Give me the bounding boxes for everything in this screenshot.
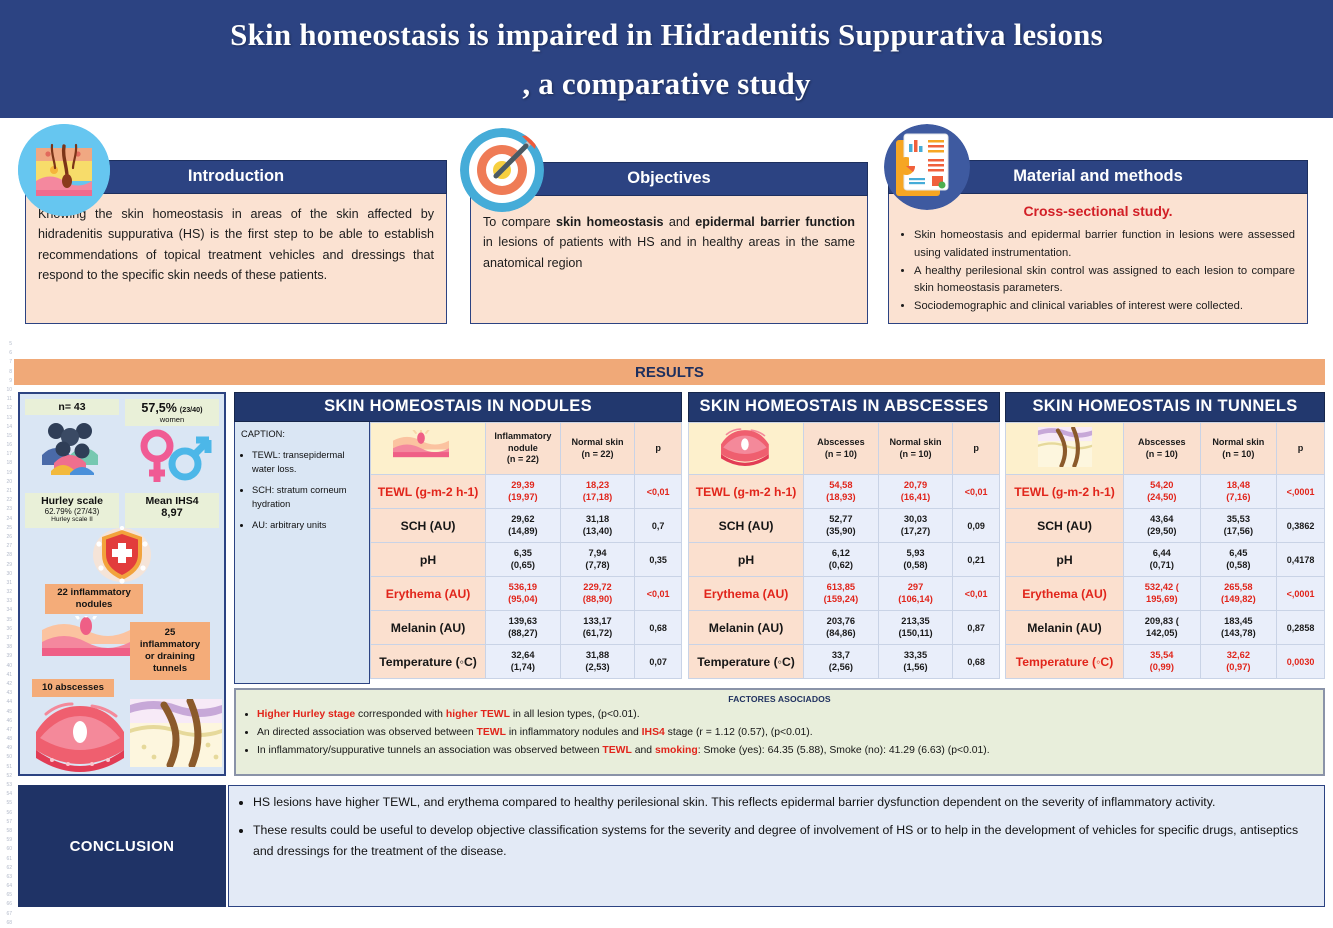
- table-row: Erythema (AU)532,42 (195,69)265,58(149,8…: [1006, 577, 1325, 611]
- row-label-cell: pH: [371, 543, 486, 577]
- row-label-cell: Temperature (◦C): [371, 645, 486, 679]
- tunnels-count-chip: 25 inflammatory or draining tunnels: [130, 622, 210, 680]
- associated-factor-bullet: Higher Hurley stage corresponded with hi…: [257, 707, 1315, 724]
- methods-body: Cross-sectional study. Skin homeostasis …: [888, 194, 1308, 324]
- factor-text-run: TEWL: [477, 727, 506, 738]
- normal-skin-value-cell: 297(106,14): [878, 577, 953, 611]
- table-row: SCH (AU)52,77(35,90)30,03(17,27)0,09: [689, 509, 1000, 543]
- hurley-sub: Hurley scale II: [27, 516, 117, 523]
- normal-skin-value-cell: 6,45(0,58): [1200, 543, 1277, 577]
- tunnels-table-block: SKIN HOMEOSTAIS IN TUNNELS Abscesses: [1005, 392, 1325, 679]
- nodules-table-block: SKIN HOMEOSTAIS IN NODULES CAPTION: TEWL…: [234, 392, 682, 684]
- normal-skin-value-cell: 32,62(0,97): [1200, 645, 1277, 679]
- p-value-cell: 0,0030: [1277, 645, 1325, 679]
- abscesses-col2-l2: (n = 10): [899, 449, 931, 459]
- abscesses-count-chip: 10 abscesses: [32, 679, 114, 697]
- lesion-value-cell: 35,54(0,99): [1124, 645, 1201, 679]
- abscess-skin-icon: [30, 702, 134, 777]
- row-label-cell: TEWL (g-m-2 h-1): [371, 475, 486, 509]
- associated-factor-bullet: In inflammatory/suppurative tunnels an a…: [257, 743, 1315, 760]
- table-row: TEWL (g-m-2 h-1)54,20(24,50)18,48(7,16)<…: [1006, 475, 1325, 509]
- factor-text-run: in inflammatory nodules and: [506, 727, 642, 738]
- abscesses-table: Abscesses (n = 10) Normal skin (n = 10) …: [688, 422, 1000, 679]
- p-value-cell: 0,21: [953, 543, 1000, 577]
- p-value-cell: 0,87: [953, 611, 1000, 645]
- row-label-cell: SCH (AU): [1006, 509, 1124, 543]
- row-label-cell: Erythema (AU): [371, 577, 486, 611]
- table-row: Melanin (AU)203,76(84,86)213,35(150,11)0…: [689, 611, 1000, 645]
- table-row: pH6,44(0,71)6,45(0,58)0,4178: [1006, 543, 1325, 577]
- factor-text-run: In inflammatory/suppurative tunnels an a…: [257, 745, 602, 756]
- lesion-value-cell: 29,39(19,97): [486, 475, 561, 509]
- normal-skin-value-cell: 133,17(61,72): [560, 611, 635, 645]
- table-row: Temperature (◦C)33,7(2,56)33,35(1,56)0,6…: [689, 645, 1000, 679]
- nodules-col3-header: p: [635, 423, 682, 475]
- lesion-value-cell: 203,76(84,86): [804, 611, 879, 645]
- abscess-skin-icon: [715, 428, 777, 466]
- hurley-value: 62.79% (27/43): [27, 507, 117, 516]
- lesion-value-cell: 536,19(95,04): [486, 577, 561, 611]
- conclusion-bullet: HS lesions have higher TEWL, and erythem…: [253, 792, 1310, 814]
- caption-item-list: TEWL: transepidermal water loss.SCH: str…: [241, 449, 364, 533]
- abscesses-col1-l2: (n = 10): [825, 449, 857, 459]
- factor-text-run: corresponded with: [355, 709, 446, 720]
- abscesses-col1-header: Abscesses (n = 10): [804, 423, 879, 475]
- nodules-header-icon-cell: [371, 423, 486, 475]
- conclusion-bullet: These results could be useful to develop…: [253, 820, 1310, 863]
- women-label: women: [127, 415, 217, 426]
- methods-bullet: A healthy perilesional skin control was …: [914, 263, 1295, 299]
- p-value-cell: <,0001: [1277, 577, 1325, 611]
- row-label-cell: Temperature (◦C): [689, 645, 804, 679]
- introduction-body: Knowing the skin homeostasis in areas of…: [25, 194, 447, 324]
- row-label-cell: TEWL (g-m-2 h-1): [689, 475, 804, 509]
- factor-text-run: TEWL: [602, 745, 631, 756]
- methods-bullet: Skin homeostasis and epidermal barrier f…: [914, 227, 1295, 263]
- factor-text-run: : Smoke (yes): 64.35 (5.88), Smoke (no):…: [698, 745, 990, 756]
- target-dart-icon: [460, 128, 544, 212]
- demographics-card: n= 43 57,5% (23/40): [18, 392, 226, 776]
- objectives-text-run: skin homeostasis: [556, 215, 664, 229]
- abscesses-col2-header: Normal skin (n = 10): [878, 423, 953, 475]
- p-value-cell: 0,7: [635, 509, 682, 543]
- p-value-cell: 0,2858: [1277, 611, 1325, 645]
- row-label-cell: Melanin (AU): [689, 611, 804, 645]
- tunnels-header-icon-cell: [1006, 423, 1124, 475]
- methods-subtitle: Cross-sectional study.: [901, 200, 1295, 223]
- normal-skin-value-cell: 5,93(0,58): [878, 543, 953, 577]
- table-row: Temperature (◦C)35,54(0,99)32,62(0,97)0,…: [1006, 645, 1325, 679]
- results-banner: RESULTS: [14, 359, 1325, 385]
- tunnels-table-body: TEWL (g-m-2 h-1)54,20(24,50)18,48(7,16)<…: [1006, 475, 1325, 679]
- sample-size-chip: n= 43: [25, 399, 119, 415]
- lesion-value-cell: 43,64(29,50): [1124, 509, 1201, 543]
- table-row: Melanin (AU)209,83 (142,05)183,45(143,78…: [1006, 611, 1325, 645]
- nodules-col2-header: Normal skin (n = 22): [560, 423, 635, 475]
- normal-skin-value-cell: 33,35(1,56): [878, 645, 953, 679]
- row-label-cell: SCH (AU): [371, 509, 486, 543]
- factor-text-run: IHS4: [642, 727, 665, 738]
- lesion-value-cell: 54,20(24,50): [1124, 475, 1201, 509]
- nodules-col1-l3: (n = 22): [507, 454, 539, 464]
- associated-factors-list: Higher Hurley stage corresponded with hi…: [244, 707, 1315, 760]
- gender-symbols-icon: [125, 428, 219, 491]
- tunnels-col2-l2: (n = 10): [1222, 449, 1254, 459]
- normal-skin-value-cell: 7,94(7,78): [560, 543, 635, 577]
- normal-skin-value-cell: 183,45(143,78): [1200, 611, 1277, 645]
- table-row: Erythema (AU)536,19(95,04)229,72(88,90)<…: [371, 577, 682, 611]
- caption-item: TEWL: transepidermal water loss.: [252, 449, 364, 477]
- tunnel-skin-icon: [130, 699, 222, 772]
- normal-skin-value-cell: 213,35(150,11): [878, 611, 953, 645]
- tunnels-col1-header: Abscesses (n = 10): [1124, 423, 1201, 475]
- factor-text-run: and: [632, 745, 655, 756]
- row-label-cell: Melanin (AU): [1006, 611, 1124, 645]
- p-value-cell: <,0001: [1277, 475, 1325, 509]
- caption-legend: CAPTION: TEWL: transepidermal water loss…: [234, 422, 370, 684]
- abscesses-col3-header: p: [953, 423, 1000, 475]
- p-value-cell: <0,01: [953, 475, 1000, 509]
- p-value-cell: <0,01: [635, 577, 682, 611]
- row-label-cell: pH: [689, 543, 804, 577]
- factor-text-run: higher TEWL: [446, 709, 510, 720]
- people-group-icon: [25, 417, 119, 480]
- p-value-cell: 0,68: [635, 611, 682, 645]
- factor-text-run: smoking: [655, 745, 698, 756]
- lesion-value-cell: 6,44(0,71): [1124, 543, 1201, 577]
- normal-skin-value-cell: 18,48(7,16): [1200, 475, 1277, 509]
- tunnels-table-heading: SKIN HOMEOSTAIS IN TUNNELS: [1005, 392, 1325, 422]
- report-document-icon: [884, 124, 970, 210]
- nodules-table-body: TEWL (g-m-2 h-1)29,39(19,97)18,23(17,18)…: [371, 475, 682, 679]
- row-label-cell: Erythema (AU): [689, 577, 804, 611]
- lesion-value-cell: 54,58(18,93): [804, 475, 879, 509]
- abscesses-col1-l1: Abscesses: [817, 437, 865, 447]
- tunnels-col3-header: p: [1277, 423, 1325, 475]
- women-fraction: (23/40): [180, 405, 203, 414]
- line-number-ruler: 5678910111213141516171819202122232425262…: [0, 340, 14, 924]
- tunnels-table: Abscesses (n = 10) Normal skin (n = 10) …: [1005, 422, 1325, 679]
- caption-title: CAPTION:: [241, 428, 364, 442]
- normal-skin-value-cell: 18,23(17,18): [560, 475, 635, 509]
- table-row: pH6,12(0,62)5,93(0,58)0,21: [689, 543, 1000, 577]
- poster-title-banner: Skin homeostasis is impaired in Hidraden…: [0, 0, 1333, 118]
- lesion-value-cell: 33,7(2,56): [804, 645, 879, 679]
- lesion-value-cell: 613,85(159,24): [804, 577, 879, 611]
- objectives-text-run: epidermal barrier function: [695, 215, 855, 229]
- table-row: TEWL (g-m-2 h-1)29,39(19,97)18,23(17,18)…: [371, 475, 682, 509]
- normal-skin-value-cell: 229,72(88,90): [560, 577, 635, 611]
- p-value-cell: 0,68: [953, 645, 1000, 679]
- table-row: SCH (AU)43,64(29,50)35,53(17,56)0,3862: [1006, 509, 1325, 543]
- lesion-value-cell: 6,12(0,62): [804, 543, 879, 577]
- objectives-text-run: in lesions of patients with HS and in he…: [483, 235, 855, 269]
- normal-skin-value-cell: 31,88(2,53): [560, 645, 635, 679]
- abscesses-header-icon-cell: [689, 423, 804, 475]
- row-label-cell: SCH (AU): [689, 509, 804, 543]
- factor-text-run: An directed association was observed bet…: [257, 727, 477, 738]
- ihs4-value: 8,97: [127, 507, 217, 519]
- normal-skin-value-cell: 31,18(13,40): [560, 509, 635, 543]
- p-value-cell: 0,3862: [1277, 509, 1325, 543]
- methods-bullet-list: Skin homeostasis and epidermal barrier f…: [901, 227, 1295, 317]
- normal-skin-value-cell: 35,53(17,56): [1200, 509, 1277, 543]
- table-row: Melanin (AU)139,63(88,27)133,17(61,72)0,…: [371, 611, 682, 645]
- p-value-cell: <0,01: [953, 577, 1000, 611]
- nodules-col2-l1: Normal skin: [571, 437, 623, 447]
- caption-item: SCH: stratum corneum hydration: [252, 484, 364, 512]
- row-label-cell: pH: [1006, 543, 1124, 577]
- p-value-cell: <0,01: [635, 475, 682, 509]
- lesion-value-cell: 6,35(0,65): [486, 543, 561, 577]
- methods-bullet: Sociodemographic and clinical variables …: [914, 298, 1295, 316]
- factor-text-run: stage (r = 1.12 (0.57), (p<0.01).: [665, 727, 813, 738]
- objectives-body: To compare skin homeostasis and epiderma…: [470, 196, 868, 324]
- p-value-cell: 0,07: [635, 645, 682, 679]
- lesion-value-cell: 532,42 (195,69): [1124, 577, 1201, 611]
- poster-title-line2: , a comparative study: [522, 66, 810, 102]
- factor-text-run: Higher Hurley stage: [257, 709, 355, 720]
- women-percentage-chip: 57,5% (23/40) women: [125, 399, 219, 426]
- normal-skin-value-cell: 20,79(16,41): [878, 475, 953, 509]
- objectives-text-run: To compare: [483, 215, 556, 229]
- lesion-value-cell: 29,62(14,89): [486, 509, 561, 543]
- row-label-cell: TEWL (g-m-2 h-1): [1006, 475, 1124, 509]
- nodules-col2-l2: (n = 22): [581, 449, 613, 459]
- hurley-title: Hurley scale: [27, 495, 117, 507]
- poster-title-line1: Skin homeostasis is impaired in Hidraden…: [230, 17, 1103, 53]
- tunnels-col1-l1: Abscesses: [1138, 437, 1186, 447]
- abscesses-table-body: TEWL (g-m-2 h-1)54,58(18,93)20,79(16,41)…: [689, 475, 1000, 679]
- nodules-col1-l2: nodule: [508, 443, 538, 453]
- shield-medical-icon: [20, 526, 224, 589]
- table-row: TEWL (g-m-2 h-1)54,58(18,93)20,79(16,41)…: [689, 475, 1000, 509]
- tunnels-col2-header: Normal skin (n = 10): [1200, 423, 1277, 475]
- abscesses-col2-l1: Normal skin: [889, 437, 941, 447]
- p-value-cell: 0,35: [635, 543, 682, 577]
- objectives-text-run: and: [664, 215, 696, 229]
- p-value-cell: 0,4178: [1277, 543, 1325, 577]
- conclusion-label: CONCLUSION: [18, 785, 226, 907]
- conclusion-body: HS lesions have higher TEWL, and erythem…: [228, 785, 1325, 907]
- tunnel-skin-icon: [1034, 427, 1096, 467]
- lesion-value-cell: 139,63(88,27): [486, 611, 561, 645]
- table-row: Erythema (AU)613,85(159,24)297(106,14)<0…: [689, 577, 1000, 611]
- factor-text-run: in all lesion types, (p<0.01).: [510, 709, 640, 720]
- skin-layers-icon: [18, 124, 110, 216]
- associated-factors-title: FACTORES ASOCIADOS: [244, 694, 1315, 704]
- abscesses-table-block: SKIN HOMEOSTAIS IN ABSCESSES Abscesses: [688, 392, 1000, 679]
- caption-item: AU: arbitrary units: [252, 519, 364, 533]
- row-label-cell: Temperature (◦C): [1006, 645, 1124, 679]
- nodules-table: Inflammatory nodule (n = 22) Normal skin…: [370, 422, 682, 679]
- women-percentage-value: 57,5%: [141, 401, 176, 415]
- nodules-col1-header: Inflammatory nodule (n = 22): [486, 423, 561, 475]
- row-label-cell: Melanin (AU): [371, 611, 486, 645]
- nodules-col1-l1: Inflammatory: [494, 431, 551, 441]
- tunnels-col2-l1: Normal skin: [1212, 437, 1264, 447]
- table-row: SCH (AU)29,62(14,89)31,18(13,40)0,7: [371, 509, 682, 543]
- lesion-value-cell: 209,83 (142,05): [1124, 611, 1201, 645]
- nodules-count-chip: 22 inflammatory nodules: [45, 584, 143, 614]
- abscesses-table-heading: SKIN HOMEOSTAIS IN ABSCESSES: [688, 392, 1000, 422]
- lesion-value-cell: 52,77(35,90): [804, 509, 879, 543]
- conclusion-bullet-list: HS lesions have higher TEWL, and erythem…: [239, 792, 1310, 863]
- table-row: pH6,35(0,65)7,94(7,78)0,35: [371, 543, 682, 577]
- associated-factors-box: FACTORES ASOCIADOS Higher Hurley stage c…: [234, 688, 1325, 776]
- table-row: Temperature (◦C)32,64(1,74)31,88(2,53)0,…: [371, 645, 682, 679]
- ihs4-title: Mean IHS4: [127, 495, 217, 507]
- normal-skin-value-cell: 30,03(17,27): [878, 509, 953, 543]
- nodules-table-heading: SKIN HOMEOSTAIS IN NODULES: [234, 392, 682, 422]
- lesion-value-cell: 32,64(1,74): [486, 645, 561, 679]
- row-label-cell: Erythema (AU): [1006, 577, 1124, 611]
- nodule-skin-icon: [393, 430, 463, 464]
- p-value-cell: 0,09: [953, 509, 1000, 543]
- tunnels-col1-l2: (n = 10): [1146, 449, 1178, 459]
- associated-factor-bullet: An directed association was observed bet…: [257, 725, 1315, 742]
- normal-skin-value-cell: 265,58(149,82): [1200, 577, 1277, 611]
